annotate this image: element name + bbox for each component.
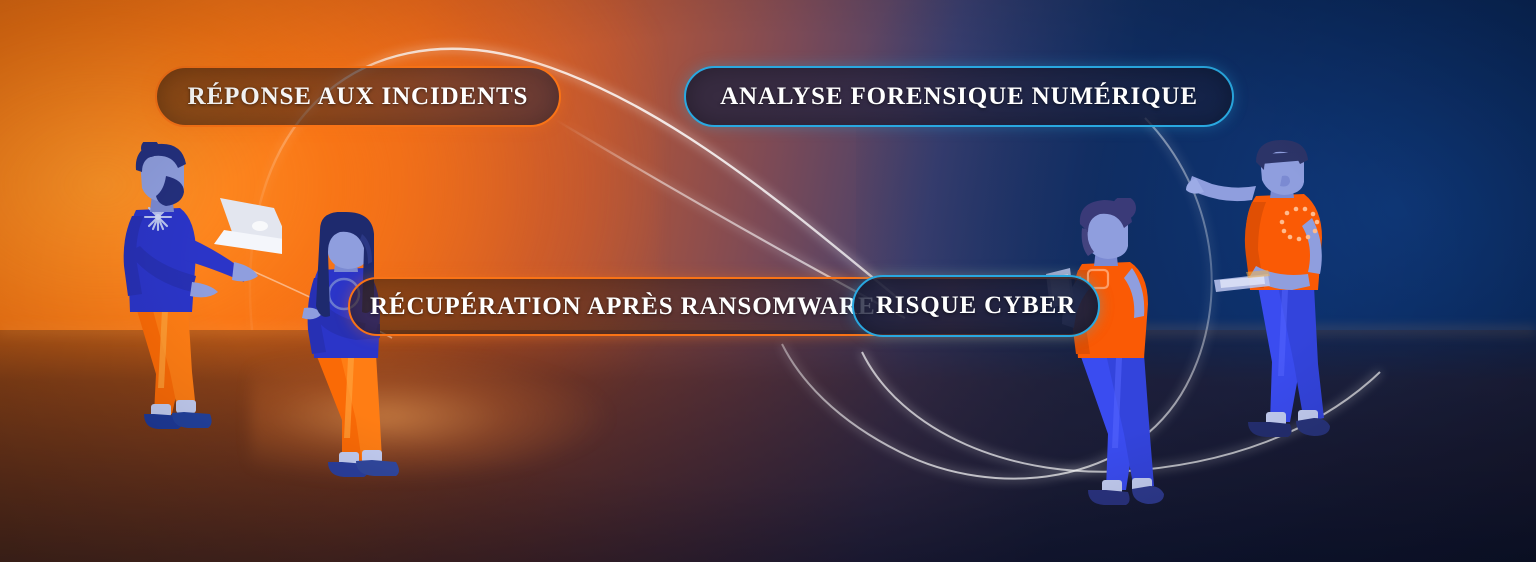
hero-banner: RÉPONSE AUX INCIDENTS ANALYSE FORENSIQUE… — [0, 0, 1536, 562]
vignette-overlay — [0, 0, 1536, 562]
